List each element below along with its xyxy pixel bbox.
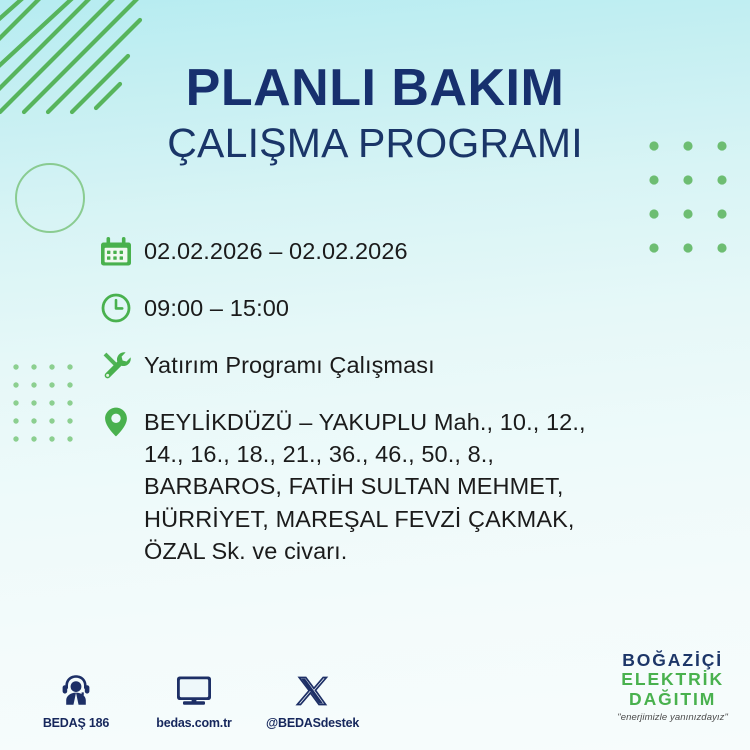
work-type-value: Yatırım Programı Çalışması [144, 347, 435, 381]
logo-line-elektrik: ELEKTRİK [617, 670, 728, 690]
date-range-value: 02.02.2026 – 02.02.2026 [144, 233, 408, 267]
map-pin-icon [100, 404, 144, 444]
calendar-icon [100, 233, 144, 273]
contact-call-center[interactable]: BEDAŞ 186 [30, 669, 122, 730]
detail-row-location: BEYLİKDÜZÜ – YAKUPLU Mah., 10., 12., 14.… [100, 404, 690, 567]
circle-outline-decoration [15, 163, 85, 233]
poster-header: PLANLI BAKIM ÇALIŞMA PROGRAMI [0, 62, 750, 166]
headset-support-icon [30, 669, 122, 709]
monitor-icon [148, 669, 240, 709]
contact-website-label: bedas.com.tr [148, 716, 240, 730]
tools-icon [100, 347, 144, 387]
time-range-value: 09:00 – 15:00 [144, 290, 289, 324]
location-value: BEYLİKDÜZÜ – YAKUPLU Mah., 10., 12., 14.… [144, 404, 592, 567]
contact-website[interactable]: bedas.com.tr [148, 669, 240, 730]
detail-row-work-type: Yatırım Programı Çalışması [100, 347, 690, 387]
maintenance-details: 02.02.2026 – 02.02.2026 09:00 – 15:00 [100, 233, 690, 567]
logo-line-dagitim: DAĞITIM [617, 690, 728, 710]
logo-line-bogazici: BOĞAZİÇİ [617, 651, 728, 671]
planned-maintenance-poster: PLANLI BAKIM ÇALIŞMA PROGRAMI [0, 0, 750, 750]
dot-grid-decoration-left [12, 363, 82, 443]
contact-channels: BEDAŞ 186 bedas.com.tr [30, 669, 358, 730]
detail-row-date: 02.02.2026 – 02.02.2026 [100, 233, 690, 273]
bedas-logo: BOĞAZİÇİ ELEKTRİK DAĞITIM "enerjimizle y… [617, 651, 728, 722]
contact-social-x-label: @BEDASdestek [266, 716, 358, 730]
logo-tagline: "enerjimizle yanınızdayız" [617, 713, 728, 723]
detail-row-time: 09:00 – 15:00 [100, 290, 690, 330]
contact-social-x[interactable]: @BEDASdestek [266, 669, 358, 730]
page-title: PLANLI BAKIM [0, 62, 750, 115]
poster-footer: BEDAŞ 186 bedas.com.tr [0, 650, 750, 736]
clock-icon [100, 290, 144, 330]
page-subtitle: ÇALIŞMA PROGRAMI [0, 121, 750, 166]
contact-call-center-label: BEDAŞ 186 [30, 716, 122, 730]
x-twitter-icon [266, 669, 358, 709]
